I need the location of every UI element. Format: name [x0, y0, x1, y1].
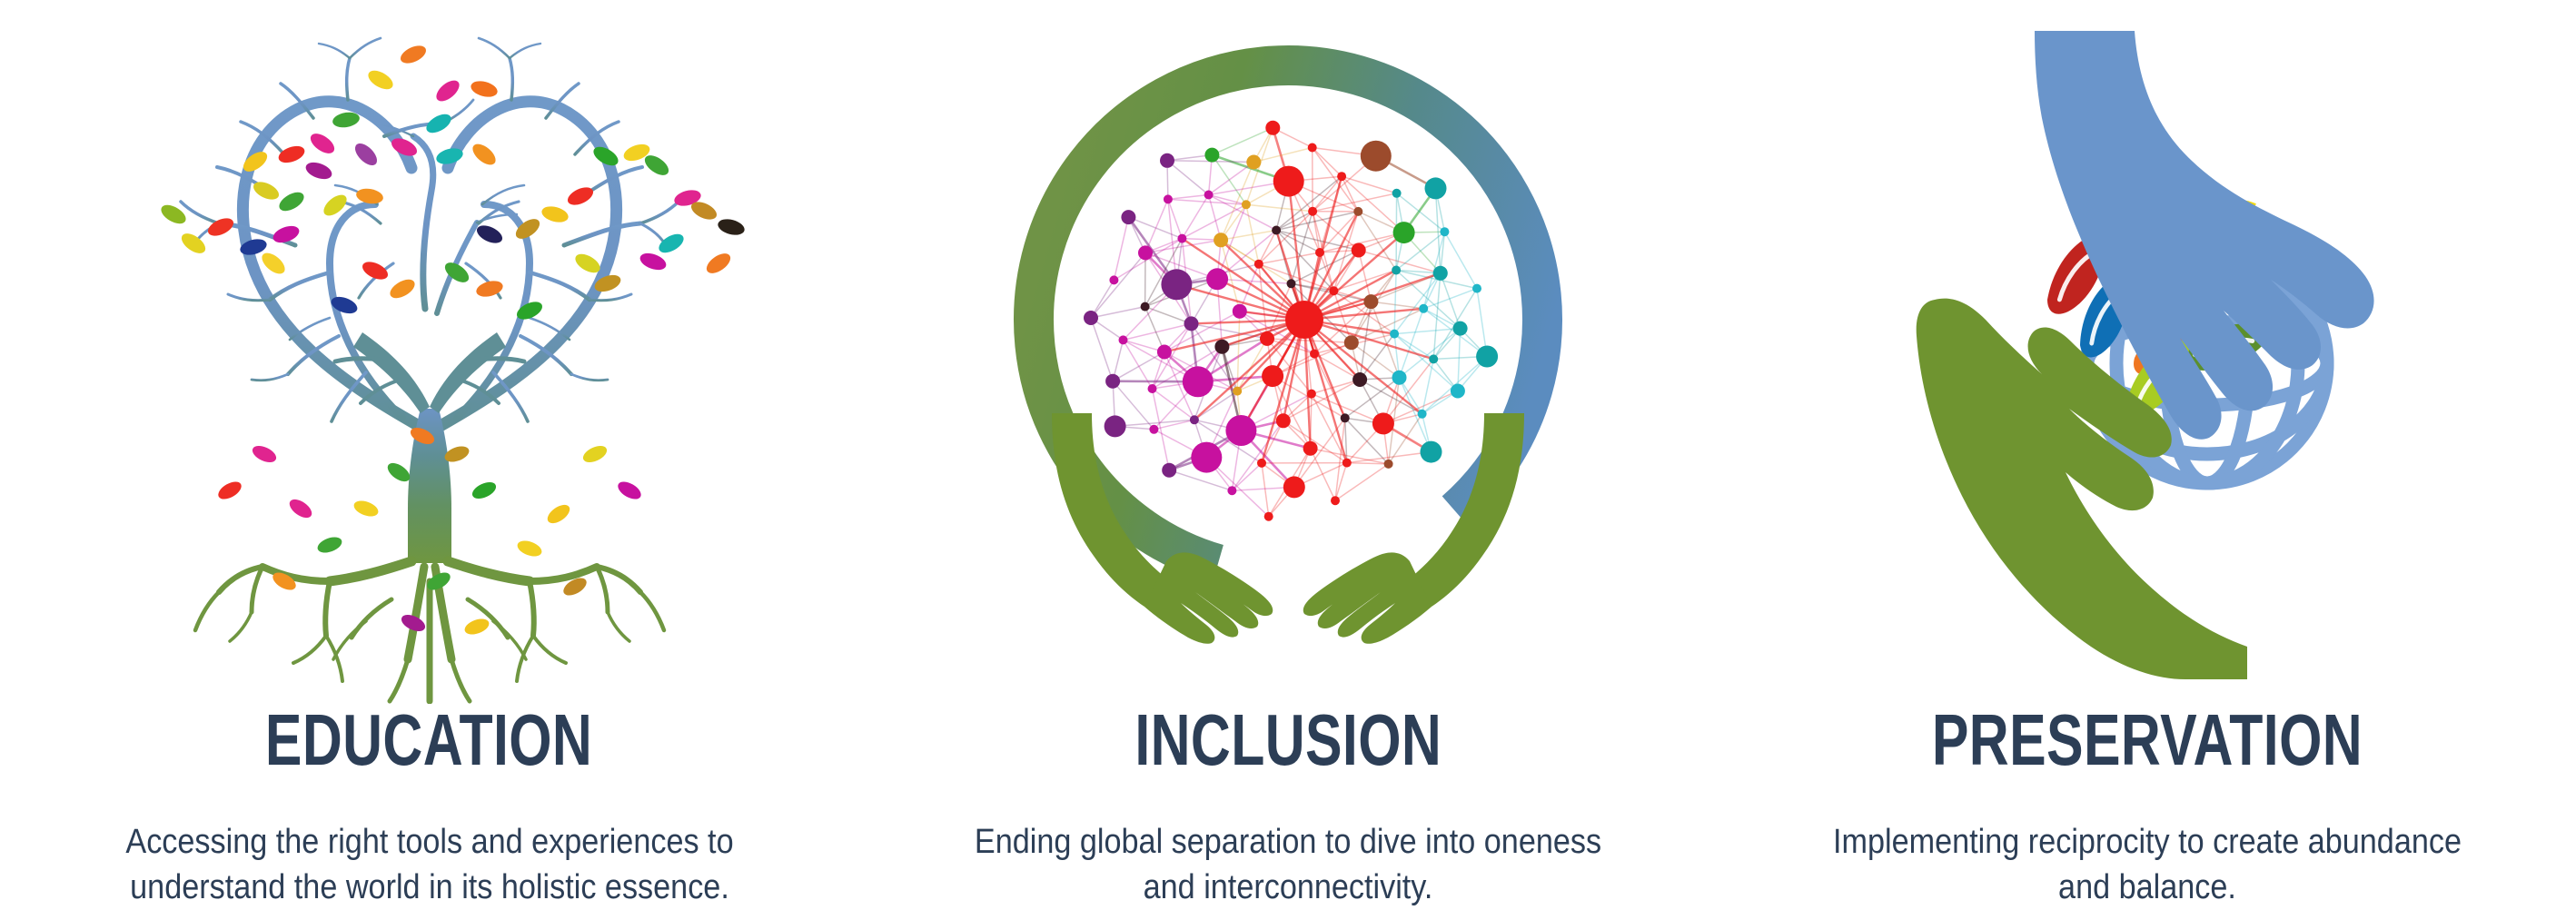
- network-node: [1393, 222, 1415, 243]
- pillar-preservation: PRESERVATION Implementing reciprocity to…: [1718, 0, 2576, 910]
- network-node: [1105, 415, 1126, 437]
- tree-leaf: [286, 496, 315, 521]
- network-node: [1453, 321, 1468, 336]
- tree-leaf: [307, 130, 338, 157]
- network-node: [1337, 172, 1346, 181]
- network-node: [1204, 148, 1219, 163]
- tree-leaf: [615, 479, 644, 503]
- network-node: [1214, 340, 1229, 354]
- network-node: [1164, 194, 1173, 203]
- pillar-inclusion: INCLUSION Ending global separation to di…: [859, 0, 1718, 910]
- network-node: [1260, 331, 1274, 346]
- network-node: [1421, 441, 1442, 463]
- network-node: [1392, 189, 1402, 198]
- network-edge: [1259, 231, 1276, 264]
- tree-leaf: [276, 143, 307, 165]
- network-edge: [1342, 176, 1358, 212]
- network-edge: [1313, 148, 1342, 177]
- network-node: [1138, 245, 1153, 260]
- pillar-description-preservation: Implementing reciprocity to create abund…: [1812, 820, 2482, 910]
- pillar-education: EDUCATION Accessing the right tools and …: [0, 0, 858, 910]
- network-node: [1227, 486, 1236, 495]
- network-node: [1191, 442, 1222, 473]
- network-node: [1308, 143, 1317, 153]
- network-node: [1121, 210, 1135, 224]
- network-node: [1419, 304, 1428, 313]
- network-node: [1160, 153, 1174, 168]
- pillar-description-education: Accessing the right tools and experience…: [94, 820, 765, 910]
- network-node: [1190, 415, 1199, 424]
- tree-leaf: [580, 442, 609, 465]
- network-edge: [1212, 128, 1273, 155]
- network-node: [1262, 365, 1283, 387]
- network-edge: [1394, 271, 1396, 334]
- network-node: [1331, 496, 1340, 505]
- network-edge: [1383, 391, 1458, 424]
- network-node: [1183, 366, 1214, 397]
- network-node: [1225, 415, 1256, 446]
- network-edge: [1312, 380, 1360, 394]
- network-node: [1472, 284, 1481, 293]
- network-node: [1315, 248, 1324, 257]
- tree-leaf: [641, 152, 672, 179]
- network-node: [1149, 425, 1158, 434]
- network-edge: [1124, 323, 1192, 340]
- network-edge: [1167, 161, 1209, 195]
- tree-leaf: [470, 479, 499, 501]
- network-node: [1276, 413, 1291, 428]
- network-node: [1344, 335, 1359, 350]
- network-node: [1287, 279, 1296, 288]
- tree-leaf: [656, 231, 687, 257]
- network-node: [1242, 200, 1251, 209]
- network-node: [1233, 387, 1242, 396]
- tree-leaf: [215, 479, 244, 503]
- pillar-description-inclusion: Ending global separation to dive into on…: [953, 820, 1623, 910]
- tree-leaf: [354, 187, 383, 206]
- network-edge: [1114, 217, 1128, 280]
- tree-leaves: [158, 42, 747, 637]
- network-node: [1119, 335, 1128, 344]
- network-node: [1372, 412, 1394, 434]
- network-node: [1384, 460, 1393, 469]
- tree-leaf: [544, 501, 573, 527]
- tree-leaf: [469, 140, 499, 169]
- tree-leaf: [365, 67, 396, 94]
- network-node: [1264, 512, 1273, 521]
- network-node: [1451, 384, 1465, 399]
- pillar-title-inclusion: INCLUSION: [1134, 704, 1442, 776]
- network-node: [1283, 476, 1305, 498]
- network-node: [1157, 345, 1172, 360]
- network-node-hub: [1285, 301, 1323, 339]
- network-node: [1109, 275, 1118, 284]
- tree-leaf: [474, 222, 505, 246]
- network-node: [1084, 311, 1098, 325]
- tree-leaf: [315, 534, 343, 556]
- network-node: [1353, 207, 1362, 216]
- three-pillars-graphic: EDUCATION Accessing the right tools and …: [0, 0, 2576, 910]
- tree-leaf: [469, 78, 499, 99]
- network-node: [1429, 354, 1438, 363]
- network-node: [1363, 294, 1378, 309]
- network-node: [1425, 177, 1447, 199]
- network-node: [1204, 191, 1214, 200]
- network-node: [1254, 260, 1263, 269]
- network-node: [1206, 268, 1228, 290]
- network-node: [1433, 266, 1448, 281]
- network-node: [1307, 390, 1316, 399]
- network-node: [1177, 234, 1186, 243]
- network-node: [1233, 304, 1247, 319]
- network-edge: [1168, 195, 1209, 200]
- tree-leaf: [352, 498, 380, 519]
- network-node: [1392, 266, 1401, 275]
- pillar-title-education: EDUCATION: [265, 704, 592, 776]
- tree-leaf: [540, 203, 570, 224]
- network-node: [1214, 232, 1228, 247]
- network-node: [1161, 269, 1192, 300]
- network-node: [1246, 155, 1261, 170]
- network-node: [1342, 459, 1352, 468]
- tree-leaf: [303, 159, 334, 182]
- network-edge: [1217, 279, 1291, 283]
- network-node: [1162, 463, 1176, 478]
- network-node: [1105, 374, 1120, 389]
- network-node: [1273, 166, 1304, 197]
- network-edge: [1359, 251, 1372, 302]
- tree-leaf: [462, 616, 490, 638]
- tree-leaf: [515, 538, 543, 559]
- network-edge: [1342, 176, 1397, 193]
- network-node: [1361, 141, 1392, 172]
- pillar-title-preservation: PRESERVATION: [1931, 704, 2362, 776]
- network-node: [1341, 413, 1350, 422]
- network-node: [1352, 372, 1367, 387]
- tree-leaf: [351, 140, 381, 170]
- network-node: [1148, 384, 1157, 393]
- tree-leaf: [703, 250, 734, 277]
- network-edge: [1335, 464, 1389, 500]
- network-node: [1257, 459, 1266, 468]
- network-node: [1272, 226, 1281, 235]
- network-node: [1476, 346, 1498, 368]
- network-edge: [1091, 318, 1113, 381]
- hands-holding-network-globe-icon: [916, 0, 1660, 704]
- network-edge: [1221, 231, 1276, 241]
- tree-leaf: [716, 216, 746, 237]
- network-node: [1418, 410, 1427, 419]
- hands-cradling-leafy-globe-icon: [1775, 0, 2520, 704]
- network-node: [1310, 350, 1319, 359]
- network-sphere: [1084, 121, 1498, 521]
- tree-leaf: [250, 442, 279, 465]
- network-node: [1392, 371, 1407, 385]
- network-node: [1184, 316, 1199, 331]
- tree-leaf: [387, 276, 418, 302]
- network-edge: [1444, 232, 1477, 288]
- right-hand: [1303, 413, 1524, 644]
- network-node: [1329, 286, 1338, 295]
- tree-leaf: [384, 460, 413, 485]
- network-node: [1390, 330, 1399, 339]
- network-node: [1308, 207, 1317, 216]
- tree-leaf: [398, 42, 429, 66]
- network-node: [1141, 302, 1150, 312]
- tree-leaf: [638, 250, 669, 272]
- tree-leaf: [276, 189, 307, 215]
- network-node: [1440, 227, 1449, 236]
- tree-leaf: [565, 183, 596, 208]
- tree-leaf: [432, 76, 462, 105]
- tree-leaf: [258, 249, 288, 278]
- network-node: [1352, 243, 1366, 258]
- network-node: [1303, 441, 1318, 456]
- network-node: [1265, 121, 1280, 135]
- heart-tree-with-roots-icon: [57, 0, 802, 704]
- network-edge: [1262, 463, 1269, 517]
